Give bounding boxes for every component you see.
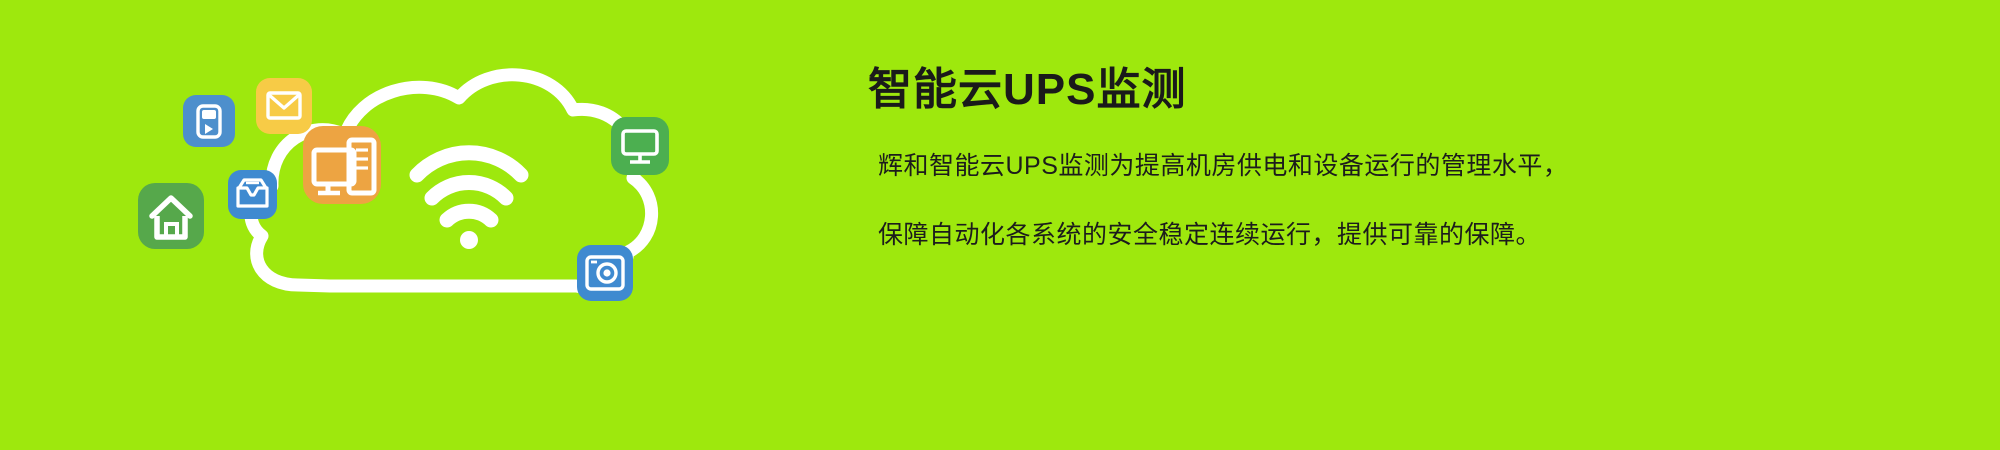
wifi-icon — [417, 153, 521, 249]
description-line-2: 保障自动化各系统的安全稳定连续运行，提供可靠的保障。 — [868, 214, 1868, 258]
home-icon — [138, 183, 204, 249]
server-monitor-icon — [303, 126, 381, 204]
camera-wallet-icon — [577, 245, 633, 301]
promo-banner: 智能云UPS监测 辉和智能云UPS监测为提高机房供电和设备运行的管理水平， 保障… — [0, 0, 2000, 450]
envelope-icon — [256, 78, 312, 134]
inbox-icon — [228, 170, 277, 219]
mobile-player-icon — [183, 95, 235, 147]
display-icon — [611, 117, 669, 175]
cloud-illustration — [0, 0, 860, 450]
page-title: 智能云UPS监测 — [868, 62, 1868, 117]
description-line-1: 辉和智能云UPS监测为提高机房供电和设备运行的管理水平， — [868, 145, 1868, 189]
text-block: 智能云UPS监测 辉和智能云UPS监测为提高机房供电和设备运行的管理水平， 保障… — [868, 62, 1868, 283]
